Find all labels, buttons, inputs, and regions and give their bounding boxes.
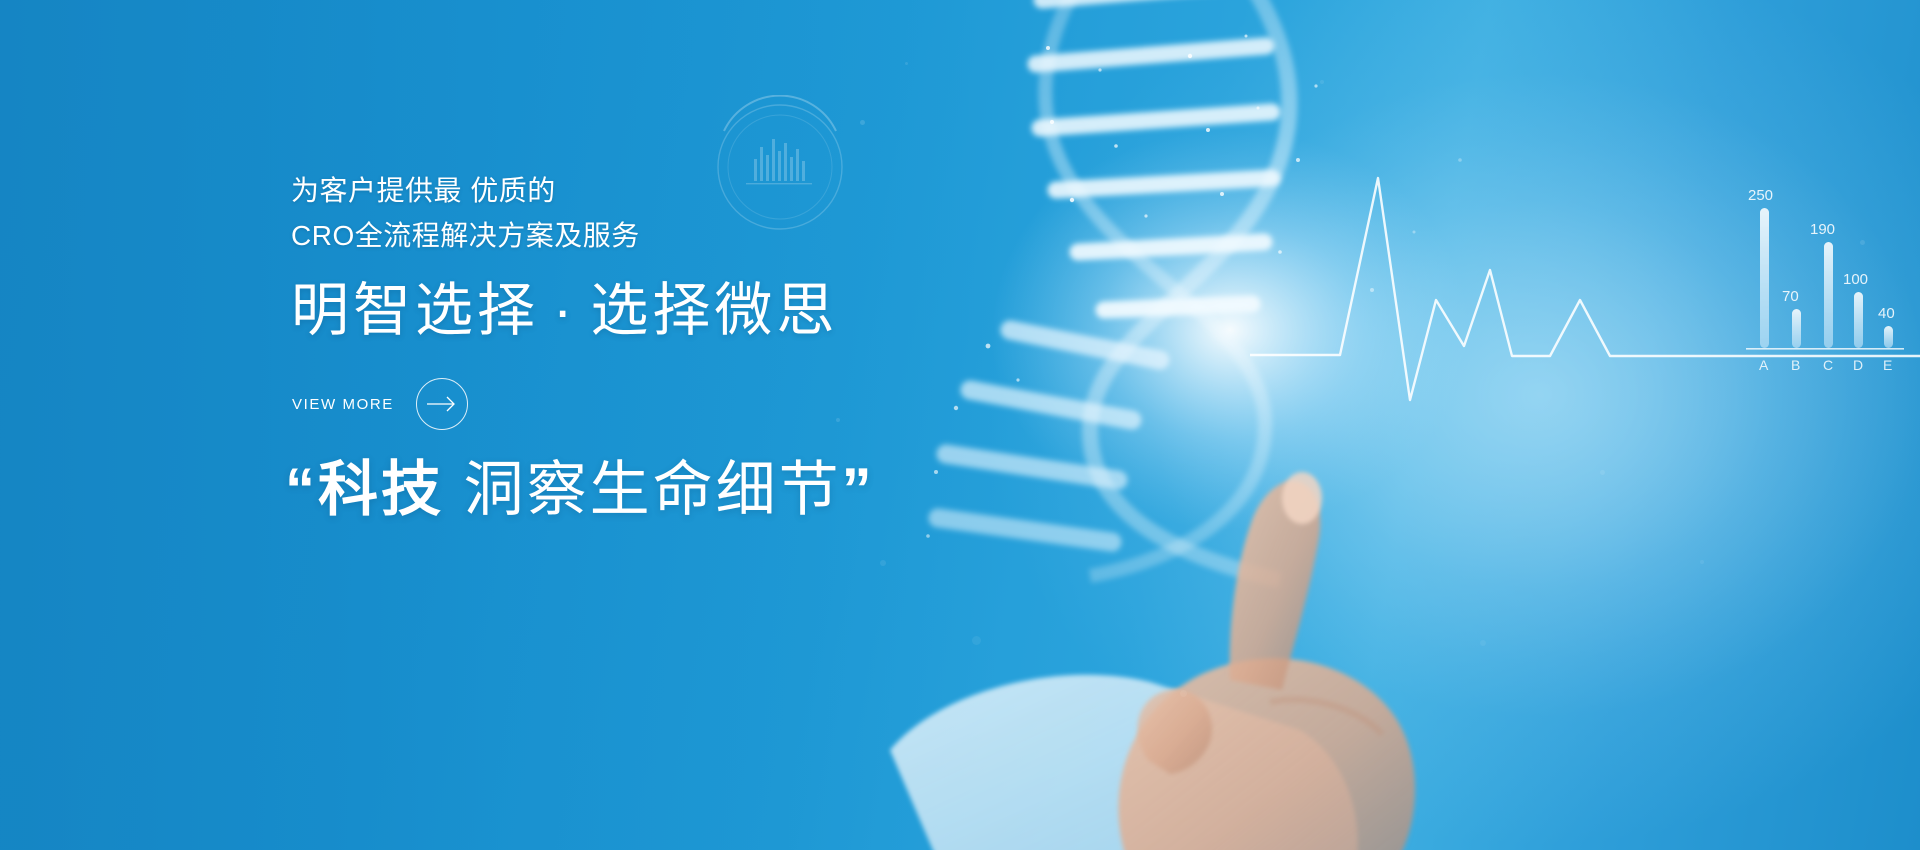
bar-value-e: 40 xyxy=(1878,305,1895,322)
bar-category-a: A xyxy=(1759,357,1769,373)
hero-content: 为客户提供最 优质的 CRO全流程解决方案及服务 明智选择·选择微思 VIEW … xyxy=(291,0,1191,850)
quote-open-mark: “ xyxy=(285,456,318,523)
bar-category-b: B xyxy=(1791,357,1800,373)
quote-close-mark: ” xyxy=(842,456,875,523)
hud-bar-chart: 250 70 190 100 40 A B C D E xyxy=(1740,180,1920,380)
bar-category-e: E xyxy=(1883,357,1892,373)
headline-part1: 明智选择 xyxy=(291,278,539,343)
bar-category-d: D xyxy=(1853,357,1863,373)
arrow-right-icon[interactable] xyxy=(416,378,468,430)
view-more-button[interactable]: VIEW MORE xyxy=(292,378,468,430)
quote-light-text: 洞察生命细节 xyxy=(464,456,842,523)
hero-subtitle-line1: 为客户提供最 优质的 xyxy=(291,175,556,206)
view-more-label: VIEW MORE xyxy=(292,396,394,413)
bar-category-c: C xyxy=(1823,357,1833,373)
quote-strong-text: 科技 xyxy=(318,456,444,523)
bar-value-a: 250 xyxy=(1748,187,1773,204)
hero-headline: 明智选择·选择微思 xyxy=(291,275,838,347)
headline-separator: · xyxy=(539,278,590,343)
hero-subtitle: 为客户提供最 优质的 CRO全流程解决方案及服务 xyxy=(291,168,640,258)
hero-quote: “科技 洞察生命细节” xyxy=(285,452,875,528)
hero-subtitle-line2: CRO全流程解决方案及服务 xyxy=(291,213,640,258)
bar-value-c: 190 xyxy=(1810,221,1835,238)
headline-part2: 选择微思 xyxy=(590,278,838,343)
bar-value-d: 100 xyxy=(1843,271,1868,288)
hero-banner: 250 70 190 100 40 A B C D E xyxy=(0,0,1920,850)
bar-value-b: 70 xyxy=(1782,288,1799,305)
